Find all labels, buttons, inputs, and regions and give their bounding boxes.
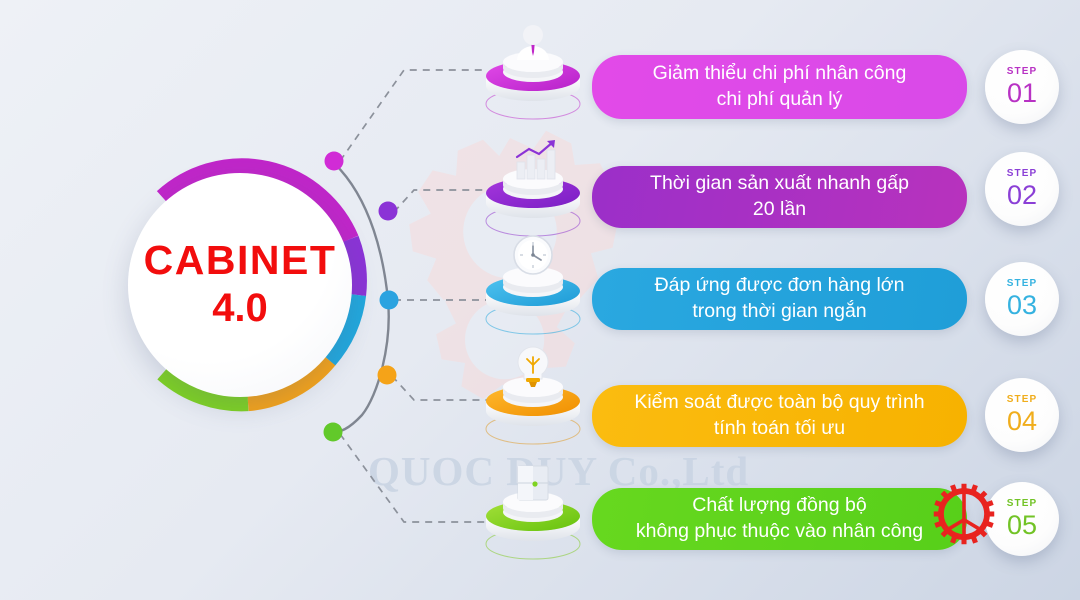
banner-step-4-line1: Kiểm soát được toàn bộ quy trình (634, 390, 924, 416)
podium-step-2 (473, 135, 593, 243)
banner-step-2-line1: Thời gian sản xuất nhanh gấp (650, 171, 909, 197)
banner-step-1-line2: chi phí quản lý (653, 87, 907, 113)
step-badge-5-word: STEP (1007, 499, 1038, 509)
banner-step-3[interactable]: Đáp ứng được đơn hàng lớn trong thời gia… (592, 268, 967, 330)
lightbulb-icon (473, 343, 593, 451)
step-badge-4[interactable]: STEP 04 (985, 378, 1059, 452)
step-badge-4-word: STEP (1007, 395, 1038, 405)
podium-step-5 (473, 458, 593, 566)
connector-dot-5 (324, 423, 343, 442)
step-badge-4-number: 04 (1007, 407, 1037, 435)
step-badge-1-word: STEP (1007, 67, 1038, 77)
banner-step-1[interactable]: Giảm thiểu chi phí nhân công chi phí quả… (592, 55, 967, 119)
connector-dot-2 (379, 202, 398, 221)
podium-step-1 (473, 18, 593, 126)
banner-step-4-line2: tính toán tối ưu (634, 416, 924, 442)
bar-chart-growth-icon (473, 135, 593, 243)
banner-step-2-line2: 20 lần (650, 197, 909, 223)
podium-step-4 (473, 343, 593, 451)
banner-step-5-line1: Chất lượng đồng bộ (636, 493, 923, 519)
connector-dot-4 (378, 366, 397, 385)
hub-subtitle: 4.0 (212, 286, 268, 331)
central-hub: CABINET 4.0 (110, 155, 370, 415)
banner-step-4[interactable]: Kiểm soát được toàn bộ quy trình tính to… (592, 385, 967, 447)
red-gear-logo-icon (928, 478, 1000, 550)
step-badge-1-number: 01 (1007, 79, 1037, 107)
step-badge-2[interactable]: STEP 02 (985, 152, 1059, 226)
step-badge-1[interactable]: STEP 01 (985, 50, 1059, 124)
step-badge-3-word: STEP (1007, 279, 1038, 289)
step-badge-3[interactable]: STEP 03 (985, 262, 1059, 336)
hub-title: CABINET (144, 239, 337, 282)
banner-step-2[interactable]: Thời gian sản xuất nhanh gấp 20 lần (592, 166, 967, 228)
hub-disc: CABINET 4.0 (128, 173, 352, 397)
step-badge-2-number: 02 (1007, 181, 1037, 209)
step-badge-2-word: STEP (1007, 169, 1038, 179)
banner-step-5[interactable]: Chất lượng đồng bộ không phục thuộc vào … (592, 488, 967, 550)
banner-step-3-line2: trong thời gian ngắn (655, 299, 905, 325)
connector-dot-3 (380, 291, 399, 310)
cabinet-box-icon (473, 458, 593, 566)
step-badge-5-number: 05 (1007, 511, 1037, 539)
step-badge-3-number: 03 (1007, 291, 1037, 319)
clock-icon (473, 233, 593, 341)
banner-step-1-line1: Giảm thiểu chi phí nhân công (653, 61, 907, 87)
podium-step-3 (473, 233, 593, 341)
infographic-canvas: QUOC DUY Co.,Ltd CABINET 4.0 (0, 0, 1080, 600)
businessperson-icon (473, 18, 593, 126)
banner-step-5-line2: không phục thuộc vào nhân công (636, 519, 923, 545)
banner-step-3-line1: Đáp ứng được đơn hàng lớn (655, 273, 905, 299)
